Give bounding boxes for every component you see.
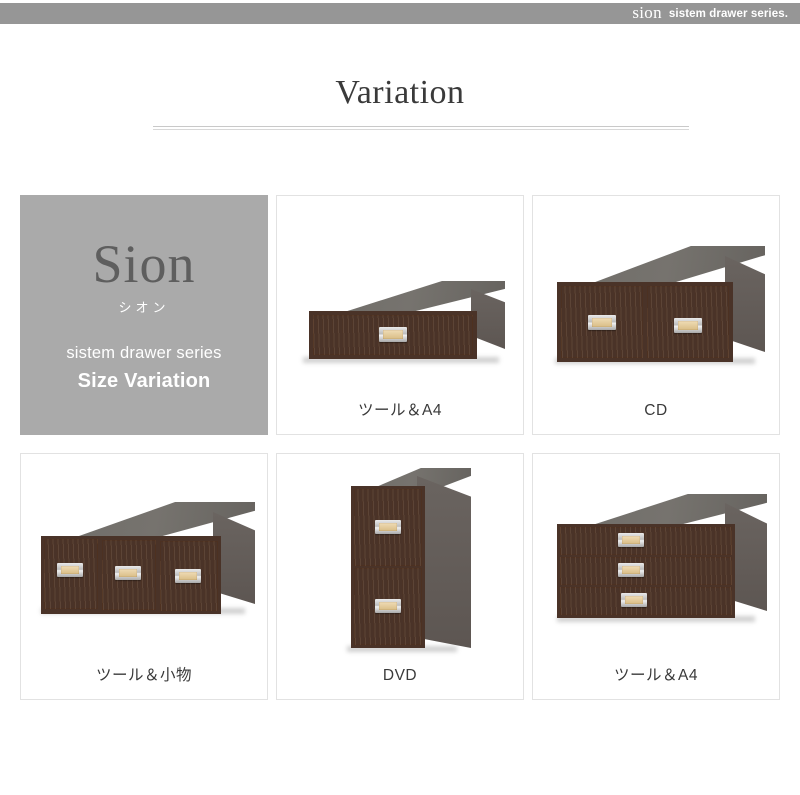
drawer-pull-label-holder[interactable] [175,569,201,583]
furniture-unit [339,468,471,652]
furniture-unit [33,502,255,614]
brand-bar: sion sistem drawer series. [0,3,800,24]
drawer-pull-label-holder[interactable] [588,315,616,330]
product-caption: DVD [277,667,523,685]
product-card-cd[interactable]: CD [532,195,780,435]
drawer-pull-label-holder[interactable] [115,566,141,580]
drawer-pull-label-holder[interactable] [618,563,644,577]
product-photo-tool-a4-triple [533,454,779,657]
intro-panel: Sion シオン sistem drawer series Size Varia… [20,195,268,435]
product-photo-dvd [277,454,523,657]
drawer-front[interactable] [560,527,732,555]
intro-size-variation: Size Variation [78,370,211,393]
furniture-unit [295,281,505,361]
brand-logo-text: sion [632,4,662,21]
label-card [625,596,644,605]
intro-kana: シオン [118,297,169,316]
furniture-unit [547,246,765,364]
product-caption: CD [533,402,779,420]
label-card [383,330,403,339]
label-card [379,523,398,532]
label-card [179,572,198,581]
drawer-pull-label-holder[interactable] [674,318,702,333]
title-divider [153,126,689,130]
divider-line-lower [153,129,689,130]
product-card-tool-a4-triple[interactable]: ツール＆A4 [532,453,780,700]
product-photo-cd [533,196,779,392]
product-photo-tool-a4-single [277,196,523,392]
intro-logo: Sion [92,237,195,291]
drawer-pull-label-holder[interactable] [375,520,401,534]
label-card [592,318,612,327]
product-card-dvd[interactable]: DVD [276,453,524,700]
drawer-pull-label-holder[interactable] [379,327,407,342]
label-card [622,566,641,575]
product-card-tool-a4-single[interactable]: ツール＆A4 [276,195,524,435]
product-caption: ツール＆小物 [21,663,267,685]
variation-grid: Sion シオン sistem drawer series Size Varia… [20,195,781,700]
label-card [678,321,698,330]
product-caption: ツール＆A4 [277,398,523,420]
label-card [119,569,138,578]
drawer-pull-label-holder[interactable] [621,593,647,607]
drawer-pull-label-holder[interactable] [375,599,401,613]
label-card [622,536,641,545]
product-caption: ツール＆A4 [533,663,779,685]
product-photo-tool-kobutsu [21,454,267,657]
label-card [61,566,80,575]
drawer-pull-label-holder[interactable] [57,563,83,577]
intro-subtitle: sistem drawer series [66,344,221,363]
drawer-pull-label-holder[interactable] [618,533,644,547]
page-title: Variation [0,74,800,112]
drawer-front[interactable] [560,557,732,585]
furniture-unit [547,494,767,622]
label-card [379,602,398,611]
product-card-tool-kobutsu[interactable]: ツール＆小物 [20,453,268,700]
case-right-side [417,476,471,648]
brand-tagline: sistem drawer series. [669,8,788,20]
